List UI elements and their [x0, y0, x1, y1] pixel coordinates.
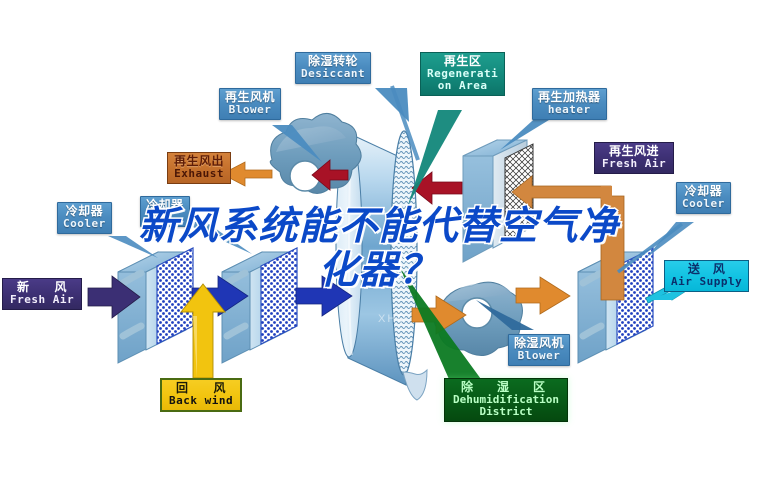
label-fresh-air-inlet-en: Fresh Air: [10, 294, 74, 306]
label-back-wind-en: Back wind: [169, 395, 233, 407]
label-desiccant-wheel-cn: 除湿转轮: [301, 55, 365, 68]
label-regeneration-heater[interactable]: 再生加热器 heater: [532, 88, 607, 120]
label-cooler-left-2-cn: 冷却器: [146, 199, 184, 212]
flow-arrow-blower-out: [516, 277, 570, 314]
label-cooler-right-en: Cooler: [682, 198, 725, 210]
dehumidifier-schematic: XHD: [0, 0, 757, 488]
label-regeneration-blower-cn: 再生风机: [225, 91, 275, 104]
drain-pan: [403, 370, 427, 400]
label-dehumidifying-blower-cn: 除湿风机: [514, 337, 564, 350]
label-fresh-air-inlet-cn: 新 风: [10, 281, 74, 294]
label-desiccant-wheel-en: Desiccant: [301, 68, 365, 80]
label-air-supply[interactable]: 送 风 Air Supply: [664, 260, 749, 292]
label-air-supply-en: Air Supply: [671, 276, 742, 288]
label-regeneration-heater-en: heater: [538, 104, 601, 116]
label-cooler-right-cn: 冷却器: [682, 185, 725, 198]
label-desiccant-wheel[interactable]: 除湿转轮 Desiccant: [295, 52, 371, 84]
label-fresh-air-regeneration-en: Fresh Air: [602, 158, 666, 170]
label-back-wind-cn: 回 风: [169, 382, 233, 395]
label-regeneration-blower-en: Blower: [225, 104, 275, 116]
label-regeneration-blower[interactable]: 再生风机 Blower: [219, 88, 281, 120]
label-fresh-air-regeneration[interactable]: 再生风进 Fresh Air: [594, 142, 674, 174]
label-exhaust[interactable]: 再生风出 Exhaust: [167, 152, 231, 184]
label-fresh-air-regeneration-cn: 再生风进: [602, 145, 666, 158]
label-dehumidification-district[interactable]: 除 湿 区 Dehumidification District: [444, 378, 568, 422]
label-regeneration-area-cn: 再生区: [427, 55, 498, 68]
label-dehumidifying-blower[interactable]: 除湿风机 Blower: [508, 334, 570, 366]
label-fresh-air-inlet[interactable]: 新 风 Fresh Air: [2, 278, 82, 310]
label-regeneration-area-en2: on Area: [427, 80, 498, 92]
label-cooler-right[interactable]: 冷却器 Cooler: [676, 182, 731, 214]
label-dehumidification-district-cn: 除 湿 区: [453, 381, 559, 394]
label-cooler-left-2[interactable]: 冷却器: [140, 196, 190, 227]
regeneration-heater-box: [463, 140, 533, 262]
diagram-canvas: XHD 除湿转轮 Desiccant 再生风机 Blower 再生风出 Exha…: [0, 0, 757, 488]
label-back-wind[interactable]: 回 风 Back wind: [160, 378, 242, 412]
label-dehumidifying-blower-en: Blower: [514, 350, 564, 362]
flow-arrow-regen-fresh-air: [512, 176, 624, 300]
label-regeneration-heater-cn: 再生加热器: [538, 91, 601, 104]
label-regeneration-area[interactable]: 再生区 Regenerati on Area: [420, 52, 505, 96]
label-exhaust-en: Exhaust: [174, 168, 224, 180]
label-exhaust-cn: 再生风出: [174, 155, 224, 168]
label-cooler-left[interactable]: 冷却器 Cooler: [57, 202, 112, 234]
label-cooler-left-cn: 冷却器: [63, 205, 106, 218]
label-dehumidification-district-en2: District: [453, 406, 559, 418]
label-air-supply-cn: 送 风: [671, 263, 742, 276]
rotor-watermark: XHD: [378, 313, 407, 325]
label-cooler-left-en: Cooler: [63, 218, 106, 230]
